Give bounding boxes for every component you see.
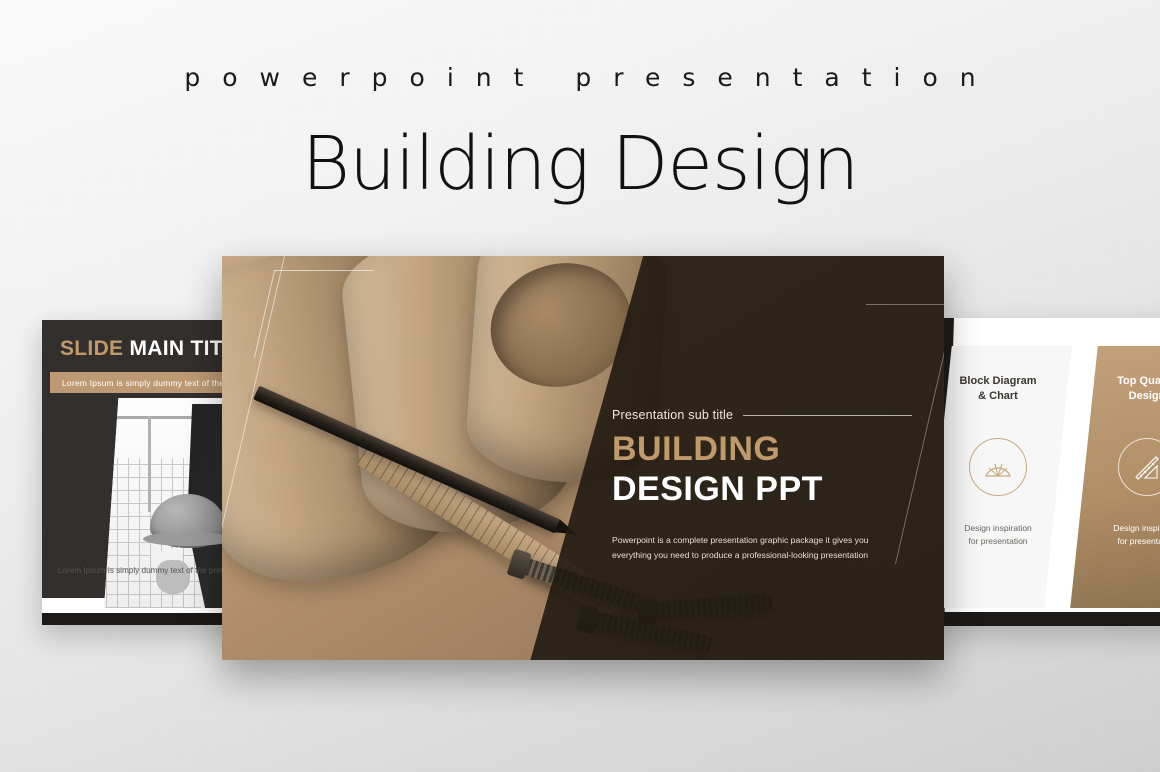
card-title: Top QualityDesign xyxy=(1084,374,1160,404)
card-block-diagram[interactable]: Block Diagram& Chart Design inspirationf… xyxy=(932,346,1072,608)
left-slide-title-accent: SLIDE xyxy=(60,337,123,360)
main-slide-subtitle-row: Presentation sub title xyxy=(612,408,912,422)
card-icon-circle xyxy=(969,438,1027,496)
set-square-ruler-icon xyxy=(1132,453,1160,481)
slide-preview-right[interactable]: Block Diagram& Chart Design inspirationf… xyxy=(932,318,1160,626)
card-text: Design inspirationfor presentation xyxy=(938,522,1058,548)
main-slide-title-line1: BUILDING xyxy=(612,432,912,468)
card-title: Block Diagram& Chart xyxy=(938,374,1058,404)
main-slide-subtitle: Presentation sub title xyxy=(612,408,733,422)
right-slide-footer-bar: 8 xyxy=(932,612,1160,626)
card-text: Design inspirationfor presentation xyxy=(1084,522,1160,548)
fan-chart-icon xyxy=(983,454,1013,480)
slide-preview-main[interactable]: Presentation sub title BUILDING DESIGN P… xyxy=(222,256,944,660)
card-icon-circle xyxy=(1118,438,1160,496)
card-top-quality-design[interactable]: Top QualityDesign Design inspirationfor … xyxy=(1070,346,1160,608)
poster-headline: Building Design xyxy=(0,121,1160,207)
crane-icon xyxy=(114,416,192,419)
main-slide-description: Powerpoint is a complete presentation gr… xyxy=(612,533,884,563)
decorative-corner-frame xyxy=(254,270,374,358)
main-slide-content: Presentation sub title BUILDING DESIGN P… xyxy=(612,408,912,563)
main-slide-title-line2: DESIGN PPT xyxy=(612,472,912,508)
subtitle-rule xyxy=(743,415,912,416)
poster-kicker: powerpoint presentation xyxy=(0,63,1160,92)
